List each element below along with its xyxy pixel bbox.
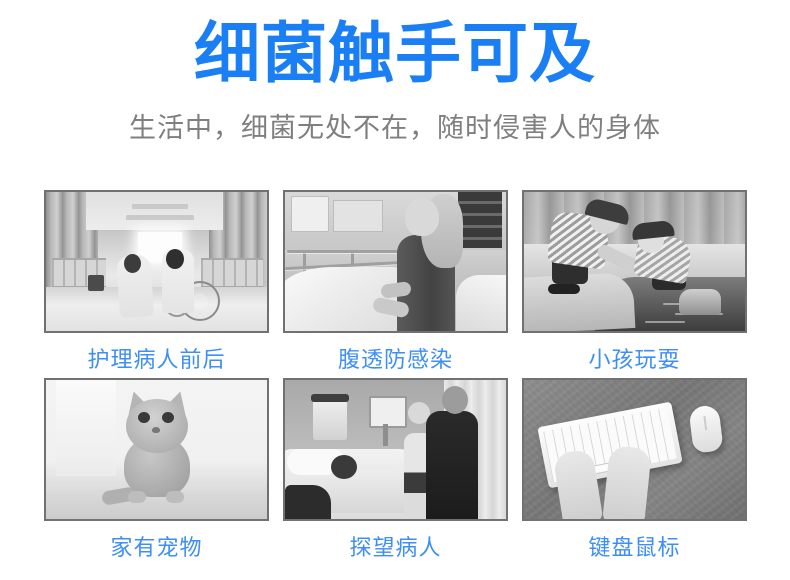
thumbnail-pets[interactable]: [44, 378, 269, 521]
page-headline: 细菌触手可及: [0, 14, 790, 92]
scenario-card-visiting[interactable]: 探望病人: [283, 378, 508, 562]
thumbnail-visiting[interactable]: [283, 378, 508, 521]
card-caption: 小孩玩耍: [522, 346, 747, 374]
card-caption: 护理病人前后: [44, 346, 269, 374]
scenario-card-pets[interactable]: 家有宠物: [44, 378, 269, 562]
promo-infographic-page: 细菌触手可及 生活中，细菌无处不在，随时侵害人的身体 护理病人前后: [0, 0, 790, 580]
scenario-card-dialysis[interactable]: 腹透防感染: [283, 190, 508, 374]
thumbnail-dialysis[interactable]: [283, 190, 508, 333]
card-caption: 键盘鼠标: [522, 534, 747, 562]
photo-grey-kitten: [46, 380, 267, 519]
photo-children-playing-water: [524, 192, 745, 331]
scenario-card-keyboard-mouse[interactable]: 键盘鼠标: [522, 378, 747, 562]
photo-hospital-visit: [285, 380, 506, 519]
scenario-card-children-play[interactable]: 小孩玩耍: [522, 190, 747, 374]
photo-nurse-making-beds: [285, 192, 506, 331]
scenario-card-grid: 护理病人前后 腹透防感染: [44, 190, 746, 562]
photo-nurse-wheelchair-corridor: [46, 192, 267, 331]
thumbnail-nursing[interactable]: [44, 190, 269, 333]
card-caption: 探望病人: [283, 534, 508, 562]
card-caption: 腹透防感染: [283, 346, 508, 374]
photo-hands-typing-keyboard: [524, 380, 745, 519]
thumbnail-children-play[interactable]: [522, 190, 747, 333]
page-subheadline: 生活中，细菌无处不在，随时侵害人的身体: [0, 110, 790, 146]
card-caption: 家有宠物: [44, 534, 269, 562]
scenario-card-nursing[interactable]: 护理病人前后: [44, 190, 269, 374]
thumbnail-keyboard-mouse[interactable]: [522, 378, 747, 521]
